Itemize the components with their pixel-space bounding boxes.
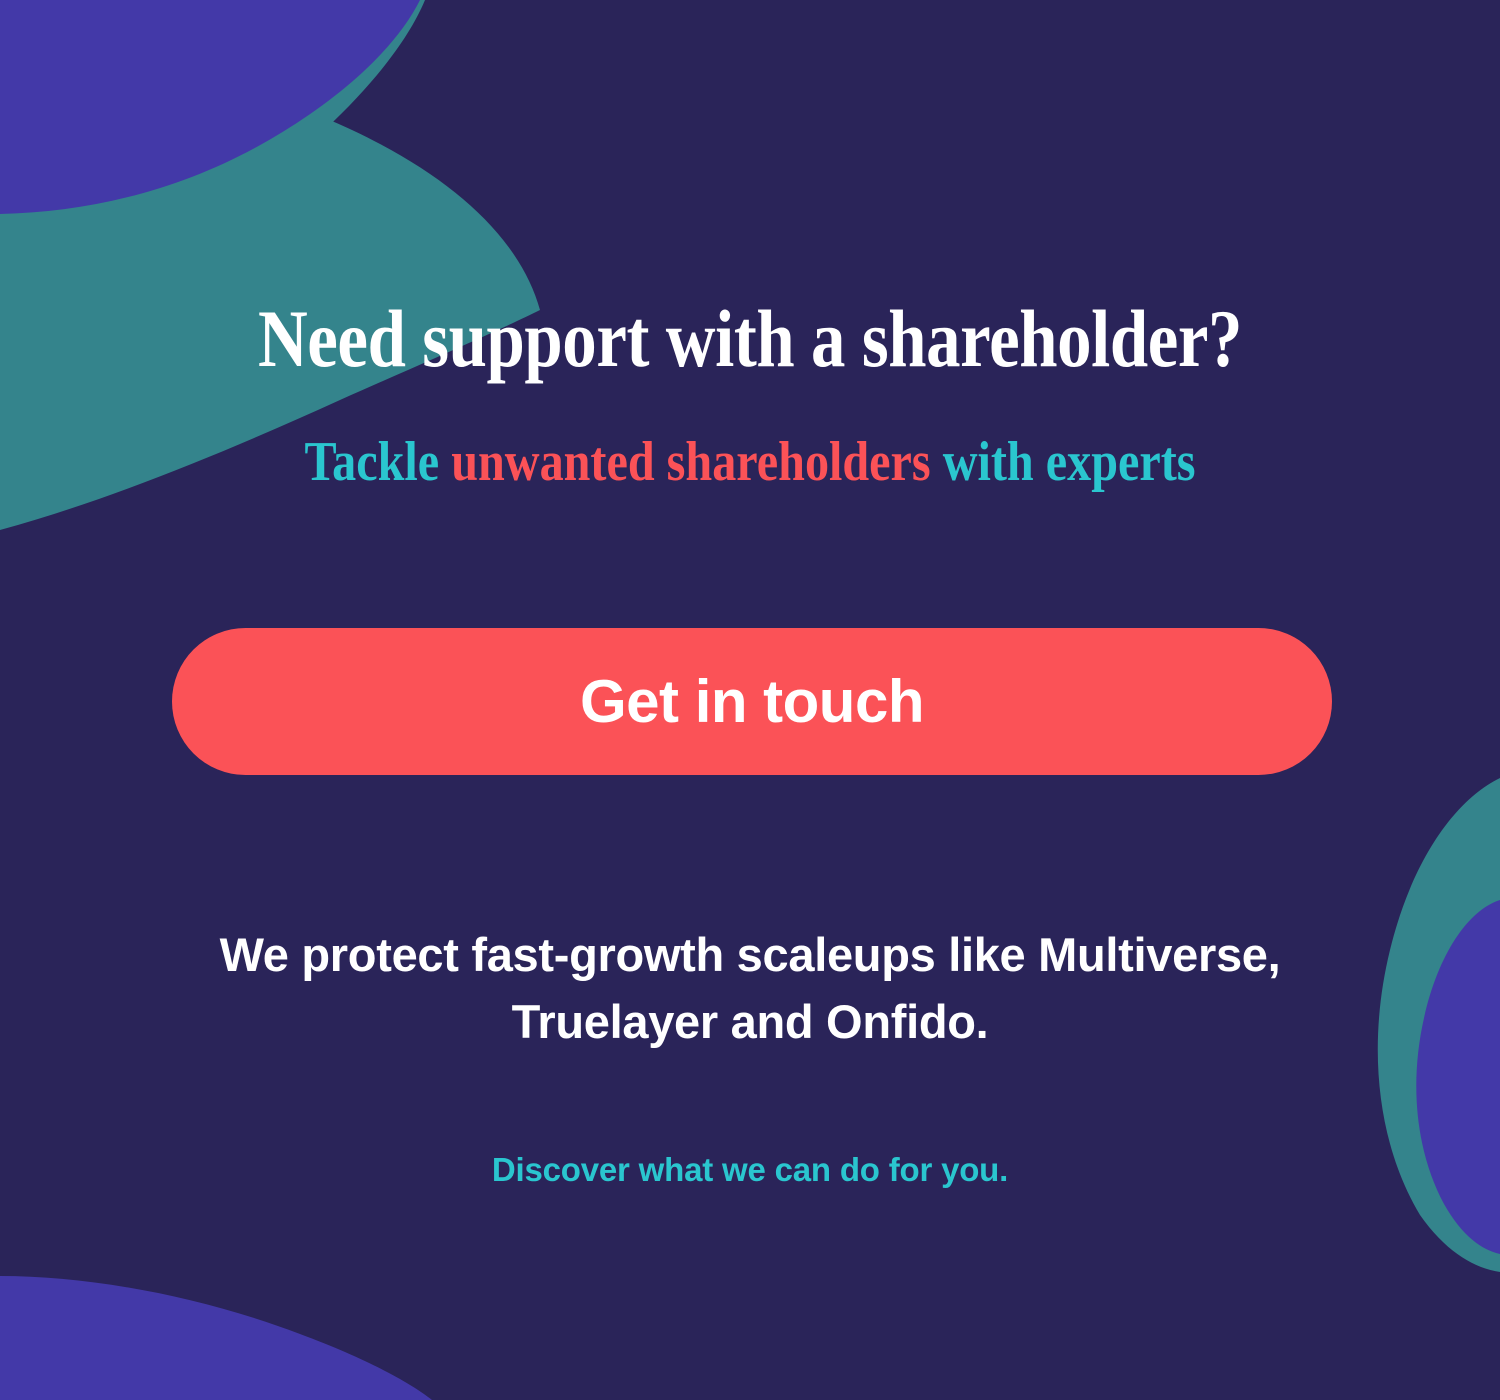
subheadline-segment-one: Tackle	[304, 431, 451, 493]
page-title: Need support with a shareholder?	[120, 296, 1380, 383]
cta-container: Get in touch	[172, 628, 1332, 775]
hero-body-copy: We protect fast-growth scaleups like Mul…	[130, 922, 1370, 1055]
hero-subheadline: Tackle unwanted shareholders with expert…	[105, 432, 1395, 494]
hero-tagline: Discover what we can do for you.	[0, 1151, 1500, 1189]
hero-section: Need support with a shareholder? Tackle …	[0, 0, 1500, 1400]
subheadline-segment-two: unwanted shareholders	[451, 431, 930, 493]
get-in-touch-button[interactable]: Get in touch	[172, 628, 1332, 775]
subheadline-segment-three: with experts	[931, 431, 1196, 493]
